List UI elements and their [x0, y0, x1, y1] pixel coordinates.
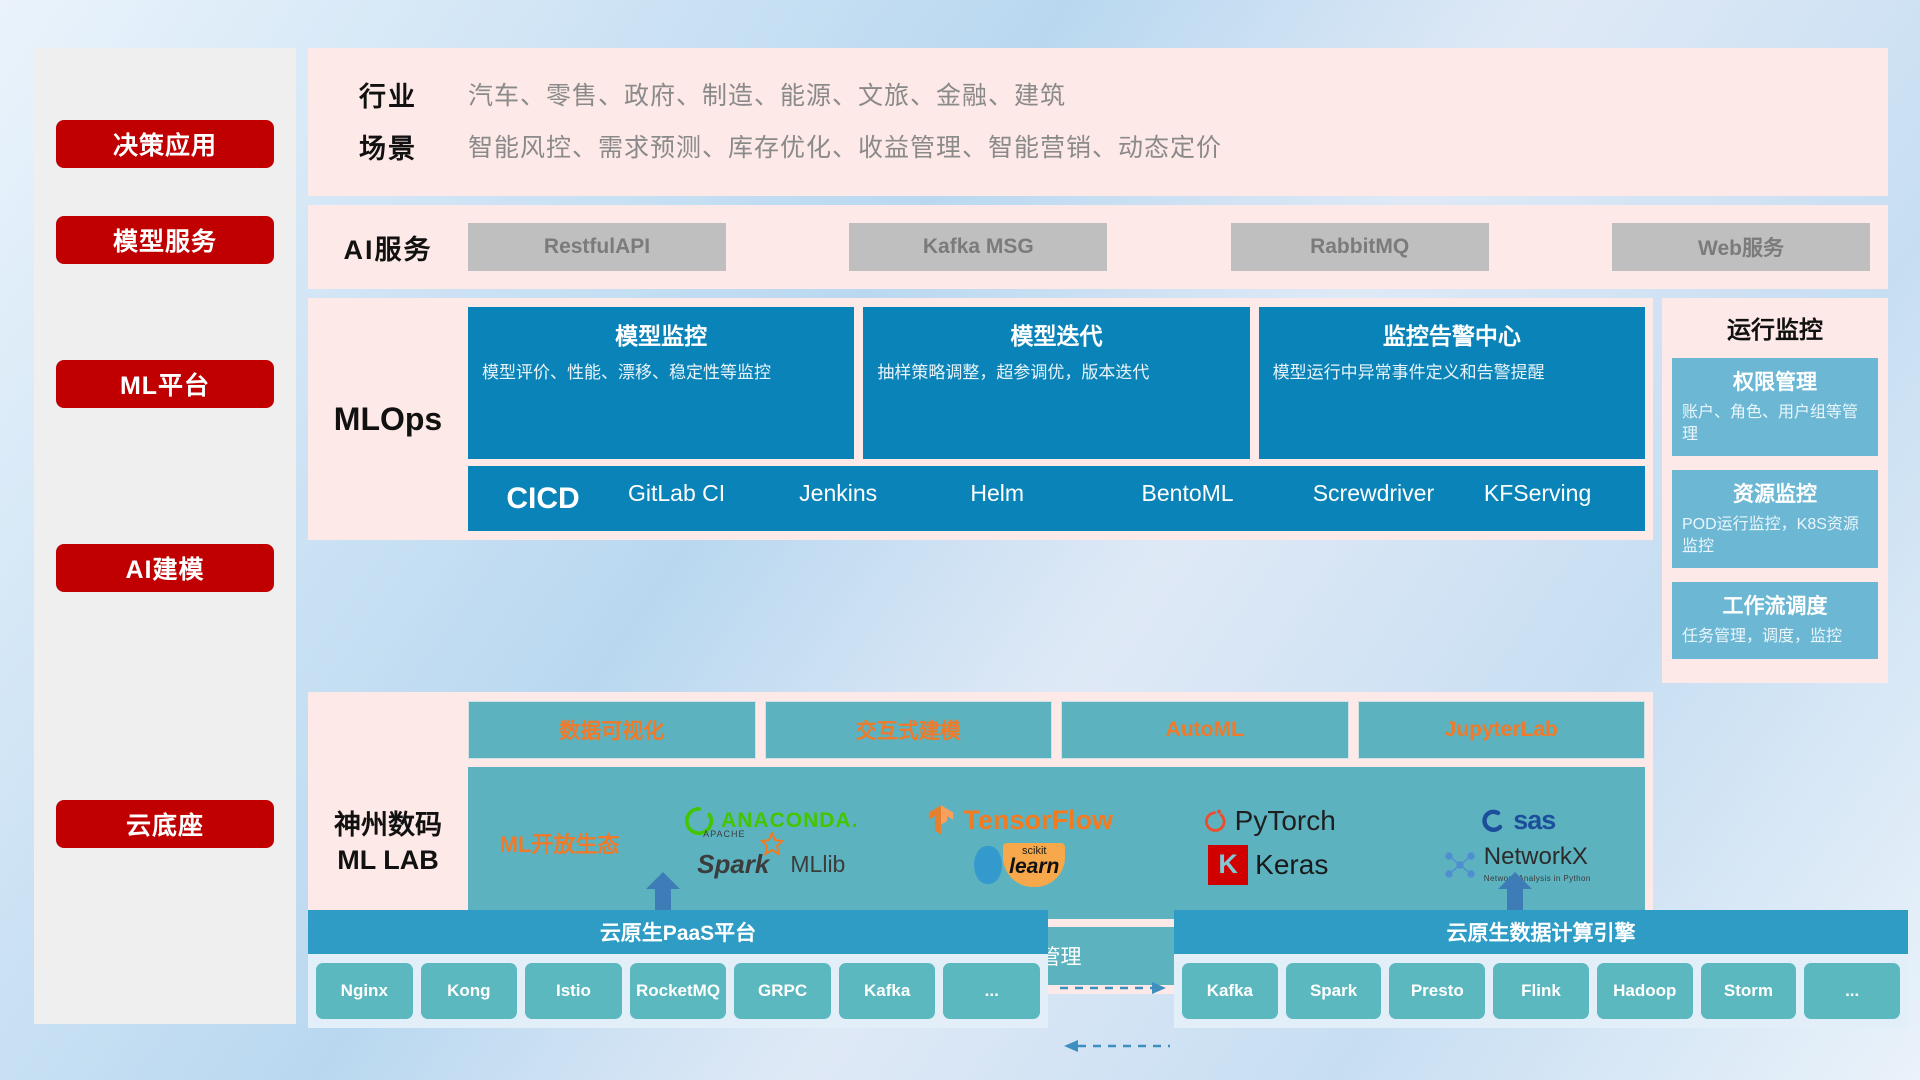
runtime-monitoring-title: 运行监控 — [1672, 310, 1878, 345]
mllib-wordmark: MLlib — [790, 851, 845, 878]
stack-layer-rail: 决策应用 模型服务 ML平台 AI建模 云底座 — [34, 48, 296, 1024]
data-engine-box: 云原生数据计算引擎 Kafka Spark Presto Flink Hadoo… — [1174, 910, 1908, 1028]
scenario-values: 智能风控、需求预测、库存优化、收益管理、智能营销、动态定价 — [468, 128, 1222, 164]
industry-values: 汽车、零售、政府、制造、能源、文旅、金融、建筑 — [468, 76, 1066, 112]
arrow-left-dashed-icon — [1060, 1039, 1170, 1058]
cicd-item-bentoml[interactable]: BentoML — [1132, 466, 1303, 508]
ai-service-chip-list: RestfulAPI Kafka MSG RabbitMQ Web服务 — [468, 223, 1888, 271]
cicd-bar: CICD GitLab CI Jenkins Helm BentoML Scre… — [468, 466, 1645, 531]
data-engine-chip-presto[interactable]: Presto — [1389, 963, 1485, 1019]
industry-row: 行业 汽车、零售、政府、制造、能源、文旅、金融、建筑 — [308, 68, 1888, 120]
pytorch-wordmark: PyTorch — [1235, 805, 1336, 837]
industry-scenario-band: 行业 汽车、零售、政府、制造、能源、文旅、金融、建筑 场景 智能风控、需求预测、… — [308, 48, 1888, 196]
keras-mark-icon: K — [1208, 845, 1248, 885]
pytorch-logo: PyTorch — [1144, 805, 1393, 837]
data-engine-chip-kafka[interactable]: Kafka — [1182, 963, 1278, 1019]
rail-item-cloud-base[interactable]: 云底座 — [56, 800, 274, 848]
mlops-card-title: 模型监控 — [482, 317, 840, 351]
ai-service-chip-rabbitmq[interactable]: RabbitMQ — [1231, 223, 1489, 271]
tensorflow-mark-icon — [926, 804, 956, 838]
sas-wordmark: sas — [1513, 805, 1555, 836]
networkx-wordmark: NetworkX — [1484, 843, 1588, 870]
mlops-card-desc: 抽样策略调整，超参调优，版本迭代 — [877, 361, 1235, 384]
mlops-card-desc: 模型运行中异常事件定义和告警提醒 — [1273, 361, 1631, 384]
paas-chip-list: Nginx Kong Istio RocketMQ GRPC Kafka ... — [308, 954, 1048, 1028]
data-engine-chip-hadoop[interactable]: Hadoop — [1597, 963, 1693, 1019]
monitor-card-workflow[interactable]: 工作流调度 任务管理，调度，监控 — [1672, 582, 1878, 659]
spark-wordmark: Spark — [697, 849, 769, 879]
sas-logo: sas — [1393, 805, 1642, 836]
ml-lab-tool-list: 数据可视化 交互式建模 AutoML JupyterLab — [468, 701, 1645, 759]
data-engine-title: 云原生数据计算引擎 — [1174, 910, 1908, 954]
sas-mark-icon — [1478, 807, 1506, 835]
arrow-up-paas-icon — [646, 872, 680, 914]
mlops-card-title: 监控告警中心 — [1273, 317, 1631, 351]
runtime-monitoring-panel: 运行监控 权限管理 账户、角色、用户组等管理 资源监控 POD运行监控，K8S资… — [1662, 298, 1888, 683]
spark-star-icon — [760, 832, 784, 856]
cicd-item-jenkins[interactable]: Jenkins — [789, 466, 960, 508]
cicd-item-gitlab-ci[interactable]: GitLab CI — [618, 466, 789, 508]
ai-service-chip-restfulapi[interactable]: RestfulAPI — [468, 223, 726, 271]
ai-service-chip-web[interactable]: Web服务 — [1612, 223, 1870, 271]
cicd-item-kfserving[interactable]: KFServing — [1474, 466, 1645, 508]
mlops-band: MLOps 模型监控 模型评价、性能、漂移、稳定性等监控 模型迭代 抽样策略调整… — [308, 298, 1653, 540]
ai-service-label: AI服务 — [308, 228, 468, 267]
paas-platform-box: 云原生PaaS平台 Nginx Kong Istio RocketMQ GRPC… — [308, 910, 1048, 1028]
cicd-item-helm[interactable]: Helm — [960, 466, 1131, 508]
tensorflow-logo: TensorFlow — [896, 804, 1145, 838]
monitor-card-desc: POD运行监控，K8S资源监控 — [1682, 514, 1868, 557]
arrow-up-data-engine-icon — [1498, 872, 1532, 914]
networkx-graph-icon — [1443, 850, 1477, 880]
monitor-card-permission[interactable]: 权限管理 账户、角色、用户组等管理 — [1672, 358, 1878, 456]
ml-lab-tool-automl[interactable]: AutoML — [1061, 701, 1349, 759]
keras-wordmark: Keras — [1255, 849, 1328, 881]
monitor-card-title: 资源监控 — [1682, 478, 1868, 508]
spark-apache-text: APACHE — [703, 829, 745, 839]
spark-mllib-logo: APACHE Spark MLlib — [647, 849, 896, 880]
data-engine-chip-more[interactable]: ... — [1804, 963, 1900, 1019]
rail-item-ml-platform[interactable]: ML平台 — [56, 360, 274, 408]
monitor-card-desc: 任务管理，调度，监控 — [1682, 626, 1868, 648]
scenario-label: 场景 — [308, 127, 468, 166]
scikit-orange-blob-icon: scikit learn — [1003, 843, 1065, 887]
mlops-card-model-iteration[interactable]: 模型迭代 抽样策略调整，超参调优，版本迭代 — [863, 307, 1249, 459]
rail-item-model-service[interactable]: 模型服务 — [56, 216, 274, 264]
ml-ecosystem-label: ML开放生态 — [472, 827, 647, 859]
rail-item-decision-app[interactable]: 决策应用 — [56, 120, 274, 168]
scenario-row: 场景 智能风控、需求预测、库存优化、收益管理、智能营销、动态定价 — [308, 120, 1888, 172]
keras-logo: K Keras — [1144, 845, 1393, 885]
paas-chip-istio[interactable]: Istio — [525, 963, 622, 1019]
data-engine-chip-storm[interactable]: Storm — [1701, 963, 1797, 1019]
mlops-label: MLOps — [308, 307, 468, 531]
data-engine-chip-flink[interactable]: Flink — [1493, 963, 1589, 1019]
anaconda-logo: ANACONDA. — [647, 806, 896, 836]
monitor-card-desc: 账户、角色、用户组等管理 — [1682, 402, 1868, 445]
mlops-card-model-monitoring[interactable]: 模型监控 模型评价、性能、漂移、稳定性等监控 — [468, 307, 854, 459]
scikit-learn-logo: scikit learn — [896, 843, 1145, 887]
paas-chip-kafka[interactable]: Kafka — [839, 963, 936, 1019]
paas-chip-more[interactable]: ... — [943, 963, 1040, 1019]
paas-chip-grpc[interactable]: GRPC — [734, 963, 831, 1019]
ai-service-chip-kafka-msg[interactable]: Kafka MSG — [849, 223, 1107, 271]
cicd-label: CICD — [468, 466, 618, 531]
monitor-card-title: 工作流调度 — [1682, 590, 1868, 620]
paas-chip-nginx[interactable]: Nginx — [316, 963, 413, 1019]
data-engine-chip-list: Kafka Spark Presto Flink Hadoop Storm ..… — [1174, 954, 1908, 1028]
arrow-right-dashed-icon — [1060, 981, 1170, 1000]
monitor-card-title: 权限管理 — [1682, 366, 1868, 396]
ai-service-band: AI服务 RestfulAPI Kafka MSG RabbitMQ Web服务 — [308, 205, 1888, 289]
pytorch-flame-icon — [1201, 805, 1228, 836]
tensorflow-wordmark: TensorFlow — [963, 805, 1113, 836]
ml-lab-tool-data-visualization[interactable]: 数据可视化 — [468, 701, 756, 759]
scikit-blue-blob-icon — [974, 846, 1002, 884]
mlops-card-list: 模型监控 模型评价、性能、漂移、稳定性等监控 模型迭代 抽样策略调整，超参调优，… — [468, 307, 1645, 459]
cicd-item-screwdriver[interactable]: Screwdriver — [1303, 466, 1474, 508]
industry-label: 行业 — [308, 75, 468, 114]
ml-lab-tool-jupyterlab[interactable]: JupyterLab — [1358, 701, 1646, 759]
paas-chip-kong[interactable]: Kong — [421, 963, 518, 1019]
mlops-card-title: 模型迭代 — [877, 317, 1235, 351]
ml-lab-label-line1: 神州数码 — [334, 810, 442, 840]
paas-chip-rocketmq[interactable]: RocketMQ — [630, 963, 727, 1019]
data-engine-chip-spark[interactable]: Spark — [1286, 963, 1382, 1019]
rail-item-ai-modeling[interactable]: AI建模 — [56, 544, 274, 592]
mlops-card-desc: 模型评价、性能、漂移、稳定性等监控 — [482, 361, 840, 384]
ml-lab-label-line2: ML LAB — [337, 845, 439, 875]
learn-text: learn — [1003, 855, 1065, 879]
monitor-card-resource[interactable]: 资源监控 POD运行监控，K8S资源监控 — [1672, 470, 1878, 568]
paas-platform-title: 云原生PaaS平台 — [308, 910, 1048, 954]
mlops-card-alert-center[interactable]: 监控告警中心 模型运行中异常事件定义和告警提醒 — [1259, 307, 1645, 459]
ml-lab-tool-interactive-modeling[interactable]: 交互式建模 — [765, 701, 1053, 759]
